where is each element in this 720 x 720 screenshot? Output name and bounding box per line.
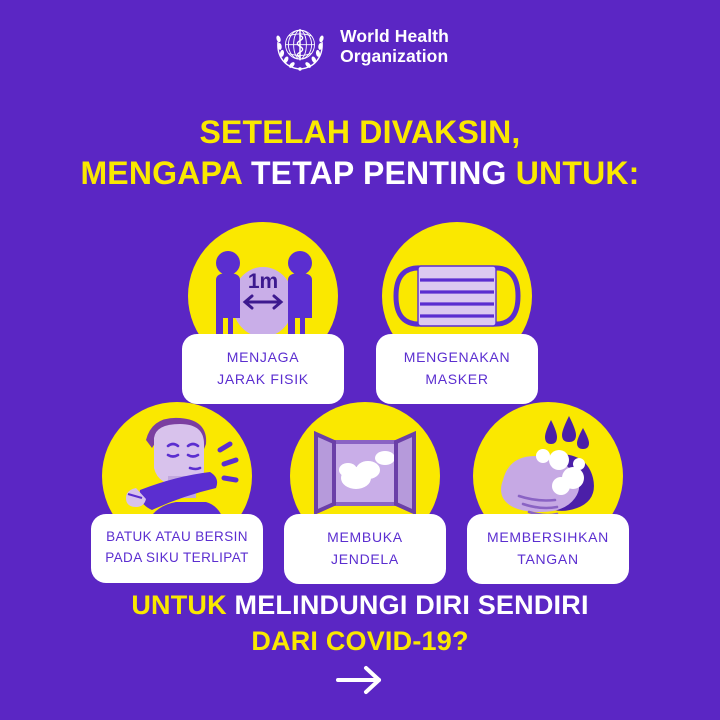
who-name-line-1: World Health bbox=[340, 27, 449, 47]
headline-seg-setelah: SETELAH DIVAKSIN, bbox=[199, 114, 520, 150]
footer-seg-dari-covid: DARI COVID-19? bbox=[251, 626, 468, 656]
label-line-2: JARAK FISIK bbox=[190, 369, 336, 391]
card-label-cough-into-elbow: BATUK ATAU BERSIN PADA SIKU TERLIPAT bbox=[91, 514, 263, 583]
card-label-clean-hands: MEMBERSIHKAN TANGAN bbox=[467, 514, 629, 584]
footer-line-1: UNTUK MELINDUNGI DIRI SENDIRI bbox=[0, 588, 720, 624]
label-line-2: JENDELA bbox=[292, 549, 438, 571]
page-headline: SETELAH DIVAKSIN, MENGAPA TETAP PENTING … bbox=[0, 112, 720, 194]
headline-seg-untuk: UNTUK: bbox=[516, 155, 640, 191]
card-label-open-window: MEMBUKA JENDELA bbox=[284, 514, 446, 584]
headline-seg-tetap-penting: TETAP PENTING bbox=[251, 155, 516, 191]
label-line-1: MEMBUKA bbox=[292, 527, 438, 549]
headline-line-2: MENGAPA TETAP PENTING UNTUK: bbox=[0, 153, 720, 194]
who-emblem-icon bbox=[271, 18, 329, 76]
card-label-physical-distancing: MENJAGA JARAK FISIK bbox=[182, 334, 344, 404]
footer-seg-melindungi: MELINDUNGI DIRI SENDIRI bbox=[235, 590, 589, 620]
label-line-1: MEMBERSIHKAN bbox=[475, 527, 621, 549]
label-line-1: BATUK ATAU BERSIN bbox=[99, 527, 255, 548]
card-label-wear-mask: MENGENAKAN MASKER bbox=[376, 334, 538, 404]
measures-row-1: 1m MENJAGA JARAK FISIK bbox=[0, 222, 720, 404]
arrow-right-icon[interactable] bbox=[332, 663, 388, 697]
label-line-2: TANGAN bbox=[475, 549, 621, 571]
footer-line-2: DARI COVID-19? bbox=[0, 624, 720, 660]
card-open-window[interactable]: MEMBUKA JENDELA bbox=[284, 402, 446, 584]
card-wear-mask[interactable]: MENGENAKAN MASKER bbox=[376, 222, 538, 404]
label-line-2: PADA SIKU TERLIPAT bbox=[99, 548, 255, 569]
card-physical-distancing[interactable]: 1m MENJAGA JARAK FISIK bbox=[182, 222, 344, 404]
label-line-1: MENJAGA bbox=[190, 347, 336, 369]
label-line-2: MASKER bbox=[384, 369, 530, 391]
who-wordmark: World Health Organization bbox=[340, 27, 449, 67]
who-name-line-2: Organization bbox=[340, 47, 449, 67]
page-footer-question: UNTUK MELINDUNGI DIRI SENDIRI DARI COVID… bbox=[0, 588, 720, 660]
card-clean-hands[interactable]: MEMBERSIHKAN TANGAN bbox=[467, 402, 629, 584]
who-logo: World Health Organization bbox=[0, 18, 720, 76]
label-line-1: MENGENAKAN bbox=[384, 347, 530, 369]
distance-value-label: 1m bbox=[248, 270, 278, 293]
card-cough-into-elbow[interactable]: BATUK ATAU BERSIN PADA SIKU TERLIPAT bbox=[91, 402, 263, 584]
footer-seg-untuk: UNTUK bbox=[131, 590, 234, 620]
measures-row-2: BATUK ATAU BERSIN PADA SIKU TERLIPAT bbox=[0, 402, 720, 584]
headline-line-1: SETELAH DIVAKSIN, bbox=[0, 112, 720, 153]
infographic-poster: World Health Organization SETELAH DIVAKS… bbox=[0, 0, 720, 720]
headline-seg-mengapa: MENGAPA bbox=[80, 155, 251, 191]
swipe-arrow-container[interactable] bbox=[0, 663, 720, 697]
